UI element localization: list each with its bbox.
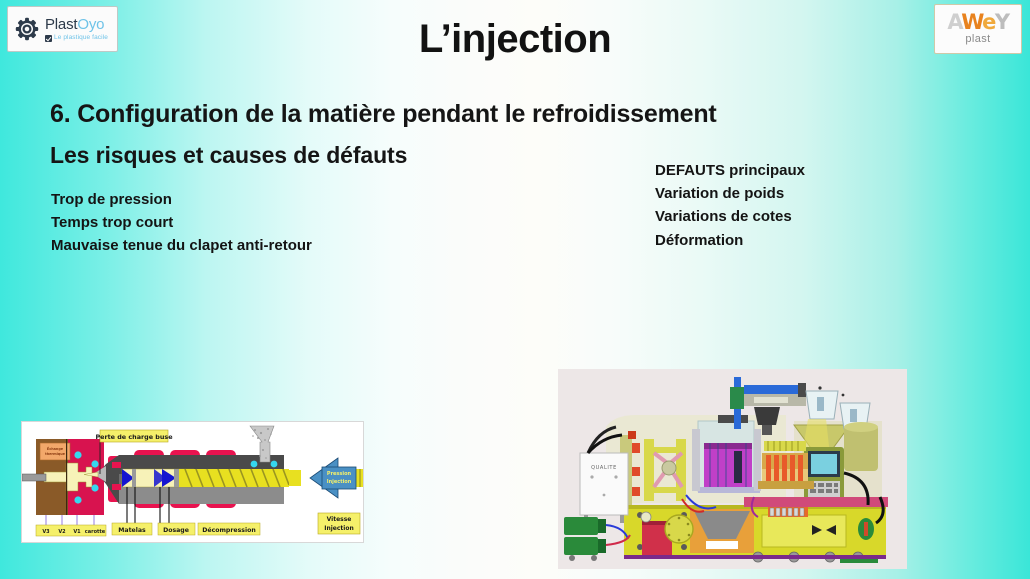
svg-text:Décompression: Décompression [202,526,256,534]
mold-area [692,415,761,493]
sub-heading: Les risques et causes de défauts [50,142,407,169]
svg-text:V2: V2 [58,529,66,535]
clamping-unit [620,431,686,505]
label-mold-zones: V3 V2 V1 carotte [36,525,106,536]
svg-text:thermique: thermique [45,452,66,456]
svg-text:Échange: Échange [47,446,64,451]
svg-text:Injection: Injection [324,525,354,532]
list-item: Mauvaise tenue du clapet anti-retour [51,234,312,257]
list-item: Trop de pression [51,188,312,211]
label-decompression: Décompression [198,523,260,535]
section-heading: 6. Configuration de la matière pendant l… [50,100,717,129]
svg-text:Vitesse: Vitesse [327,516,352,523]
injection-unit-schematic: Échange thermique [21,421,364,543]
causes-list: Trop de pression Temps trop court Mauvai… [51,188,312,258]
injection-molding-machine-image: QUALITE [558,369,907,569]
defects-list: DEFAUTS principaux Variation de poids Va… [655,159,805,252]
barrel-section [758,441,814,489]
defects-heading: DEFAUTS principaux [655,159,805,182]
control-panel [804,447,844,503]
svg-text:Perte de charge buse: Perte de charge buse [95,433,173,441]
svg-text:carotte: carotte [85,529,106,535]
svg-text:Injection: Injection [327,479,352,485]
svg-text:V3: V3 [42,529,50,535]
svg-text:Pression: Pression [327,471,352,477]
svg-text:Dosage: Dosage [163,527,189,534]
cabinet-label: QUALITE [591,465,617,471]
schematic-svg: Échange thermique [22,422,363,542]
machine-svg: QUALITE [558,369,907,569]
list-item: Variation de poids [655,182,805,205]
svg-text:V1: V1 [73,529,81,535]
slide-canvas: PlastOyo Le plastique facile AWeY plast … [0,0,1030,579]
list-item: Variations de cotes [655,205,805,228]
machine-base [624,497,888,563]
svg-text:Matelas: Matelas [118,527,146,534]
page-title: L’injection [0,17,1030,62]
list-item: Temps trop court [51,211,312,234]
label-injection-speed: Vitesse Injection [318,513,360,534]
list-item: Déformation [655,229,805,252]
